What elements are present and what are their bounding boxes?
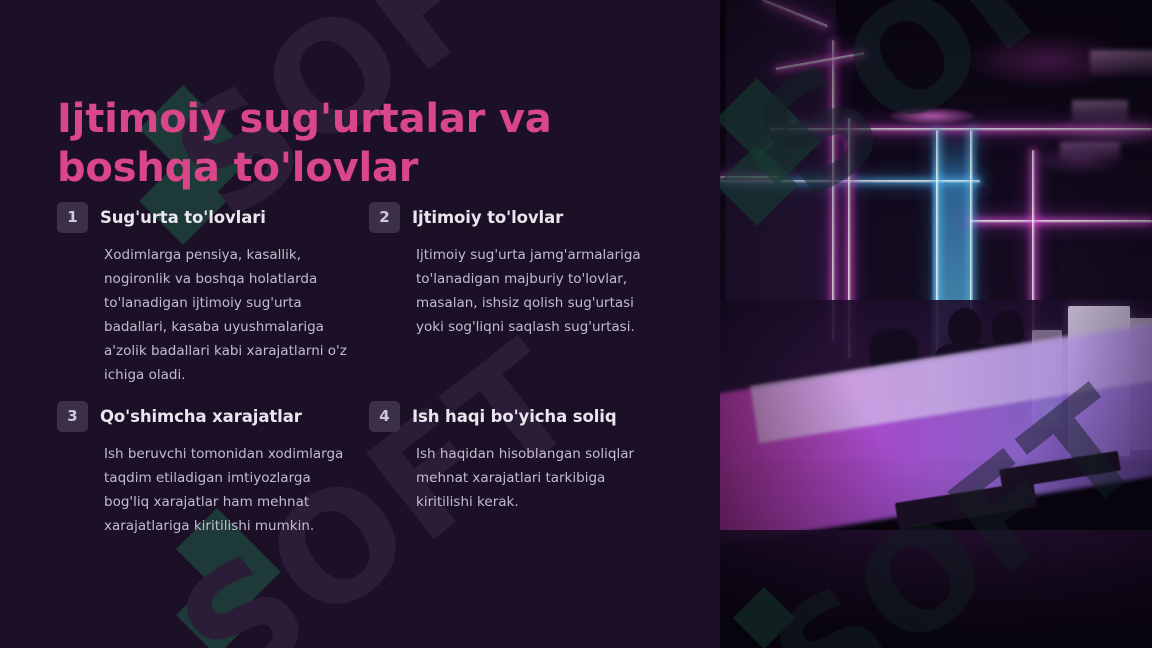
slide-photo: SOFT SOFT [720, 0, 1152, 648]
items-grid: 1 Sug'urta to'lovlari Xodimlarga pensiya… [57, 202, 677, 538]
item-number-badge: 2 [369, 202, 400, 233]
item-number-badge: 3 [57, 401, 88, 432]
item-body: Ish beruvchi tomonidan xodimlarga taqdim… [104, 442, 352, 538]
item-title: Qo'shimcha xarajatlar [100, 407, 302, 426]
list-item: 3 Qo'shimcha xarajatlar Ish beruvchi tom… [57, 401, 352, 538]
list-item: 4 Ish haqi bo'yicha soliq Ish haqidan hi… [369, 401, 664, 538]
item-header: 1 Sug'urta to'lovlari [57, 202, 352, 233]
content-panel: SOFT SOFT Ijtimoiy sug'urtalar va boshqa… [0, 0, 720, 648]
item-body: Ijtimoiy sug'urta jamg'armalariga to'lan… [416, 243, 664, 339]
presentation-slide: SOFT SOFT Ijtimoiy sug'urtalar va boshqa… [0, 0, 1152, 648]
item-number-badge: 4 [369, 401, 400, 432]
item-header: 3 Qo'shimcha xarajatlar [57, 401, 352, 432]
photo-vignette [720, 0, 1152, 648]
item-body: Ish haqidan hisoblangan soliqlar mehnat … [416, 442, 664, 514]
list-item: 1 Sug'urta to'lovlari Xodimlarga pensiya… [57, 202, 352, 387]
item-title: Ijtimoiy to'lovlar [412, 208, 563, 227]
slide-title: Ijtimoiy sug'urtalar va boshqa to'lovlar [57, 95, 657, 193]
list-item: 2 Ijtimoiy to'lovlar Ijtimoiy sug'urta j… [369, 202, 664, 387]
item-number-badge: 1 [57, 202, 88, 233]
item-title: Sug'urta to'lovlari [100, 208, 266, 227]
item-body: Xodimlarga pensiya, kasallik, nogironlik… [104, 243, 352, 387]
item-header: 2 Ijtimoiy to'lovlar [369, 202, 664, 233]
item-header: 4 Ish haqi bo'yicha soliq [369, 401, 664, 432]
item-title: Ish haqi bo'yicha soliq [412, 407, 617, 426]
